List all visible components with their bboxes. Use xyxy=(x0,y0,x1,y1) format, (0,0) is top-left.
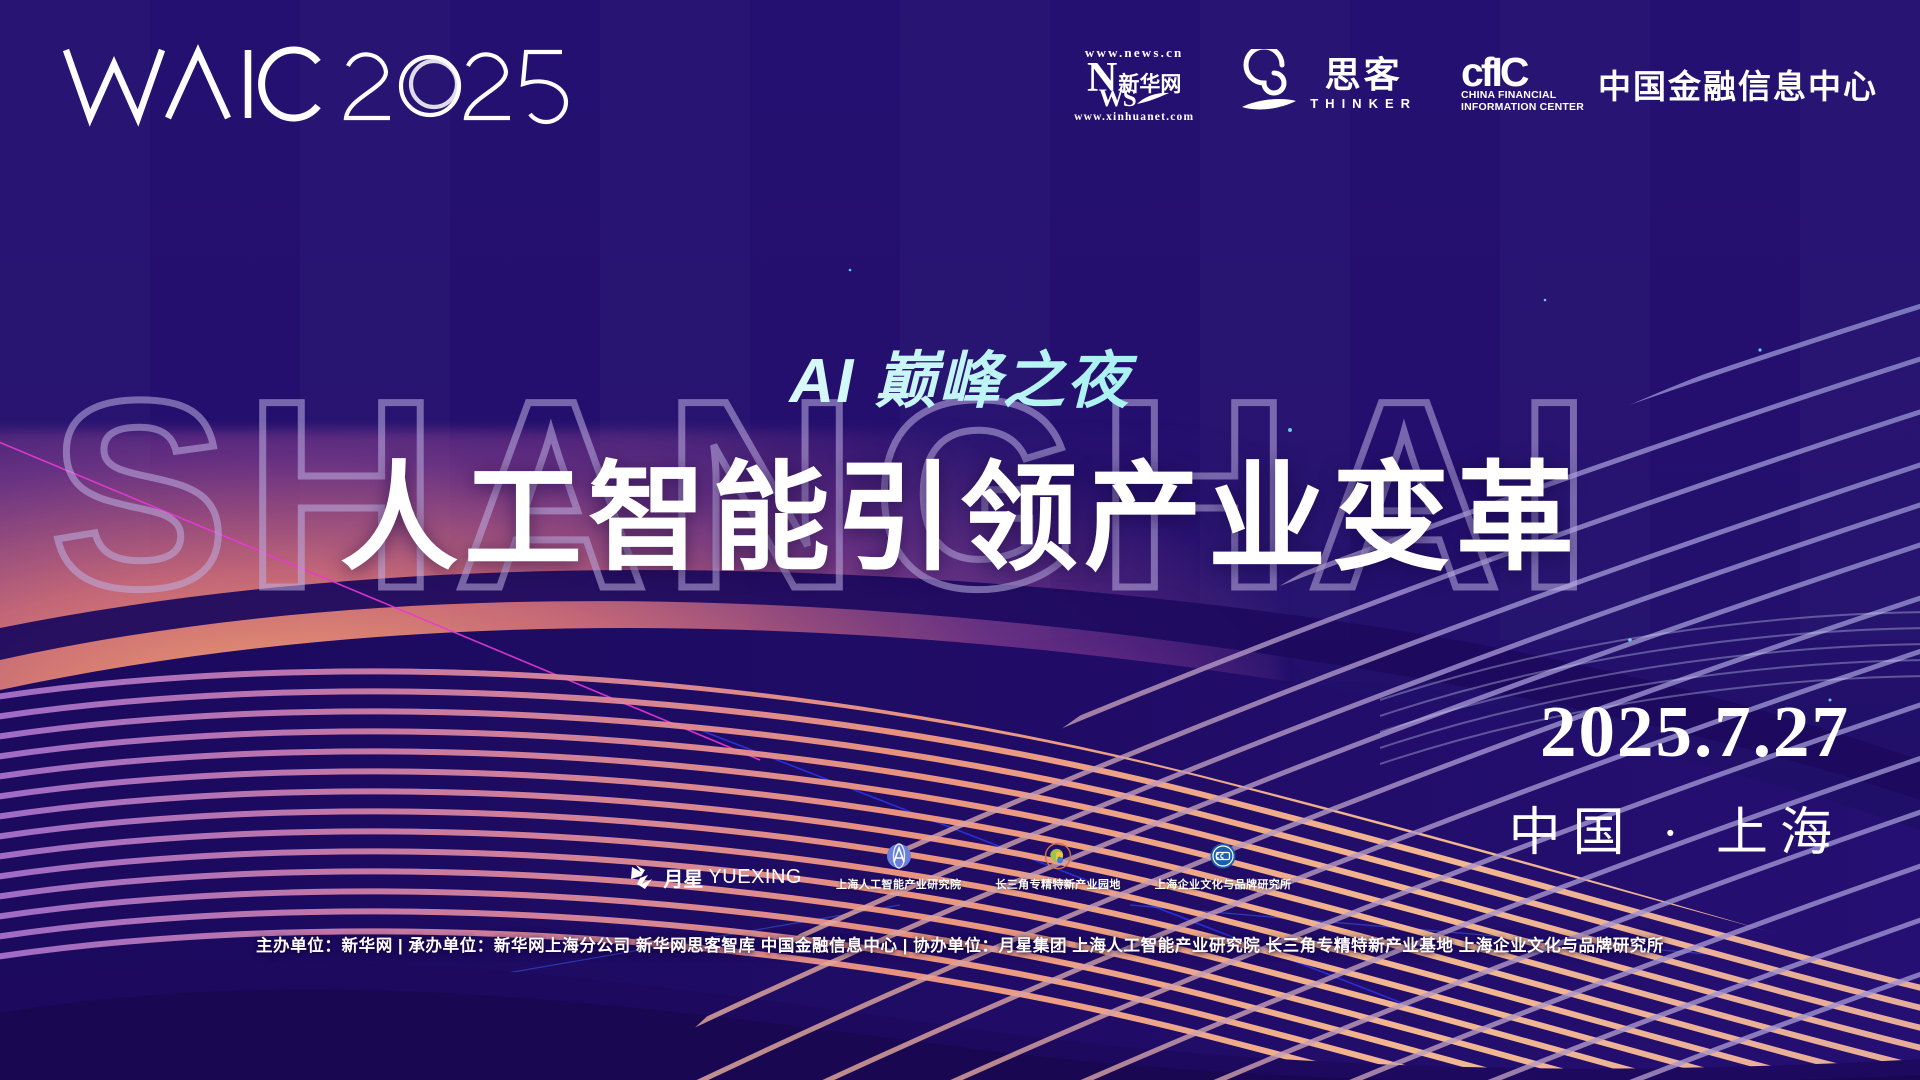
yuexing-star-icon xyxy=(628,862,658,892)
cfic-cn-name: 中国金融信息中心 xyxy=(1598,60,1878,108)
blue-seal-icon xyxy=(1208,842,1238,872)
event-subtitle: AI 巅峰之夜 xyxy=(0,330,1920,420)
yuexing-cn: 月星 xyxy=(663,863,703,892)
sponsor-name: 长三角专精特新产业园地 xyxy=(995,876,1120,892)
sponsor-secbri: 上海企业文化与品牌研究所 xyxy=(1155,842,1292,892)
waic-2025-logo xyxy=(60,40,580,128)
swirl-brush-icon xyxy=(1238,49,1300,119)
sponsor-yrd-base: 长三角专精特新产业园地 xyxy=(995,842,1120,892)
thinker-en-name: THINKER xyxy=(1310,96,1417,111)
cfic-logo: cfIC CHINA FINANCIAL INFORMATION CENTER … xyxy=(1461,55,1878,114)
xinhuanet-ws-letters: WS xyxy=(1099,89,1136,109)
globe-a-icon xyxy=(884,842,914,872)
sponsor-name: 上海人工智能产业研究院 xyxy=(836,876,961,892)
xinhuanet-url-bottom: www.xinhuanet.com xyxy=(1074,111,1194,123)
sponsor-logo-row: 月星 YUEXING 上海人工智能产业研究院 长三角专精特新产业园地 xyxy=(0,842,1920,892)
event-date: 2025.7.27 xyxy=(1540,690,1850,774)
banner-canvas: SHANGHAI www.news.cn xyxy=(0,0,1920,1080)
cfic-wordmark: cfIC xyxy=(1461,55,1584,90)
cfic-en-line1: CHINA FINANCIAL xyxy=(1461,89,1584,101)
cfic-en-line2: INFORMATION CENTER xyxy=(1461,101,1584,113)
partner-logo-bar: www.news.cn N 新华网 WS www.xinhuanet.com xyxy=(1074,38,1878,130)
sponsor-yuexing: 月星 YUEXING xyxy=(628,862,802,892)
event-headline: 人工智能引领产业变革 xyxy=(0,422,1920,593)
sponsor-name: 上海企业文化与品牌研究所 xyxy=(1155,876,1292,892)
colorful-ring-icon xyxy=(1043,842,1073,872)
organizer-credit-line: 主办单位：新华网 | 承办单位：新华网上海分公司 新华网思客智库 中国金融信息中… xyxy=(0,932,1920,956)
xinhuanet-logo: www.news.cn N 新华网 WS www.xinhuanet.com xyxy=(1074,45,1194,123)
sponsor-shanghai-ai-institute: 上海人工智能产业研究院 xyxy=(836,842,961,892)
yuexing-en: YUEXING xyxy=(708,866,802,889)
xinhuanet-swoosh-icon xyxy=(1136,91,1170,107)
thinker-logo: 思客 THINKER xyxy=(1238,49,1417,119)
thinker-cn-name: 思客 xyxy=(1325,57,1403,93)
